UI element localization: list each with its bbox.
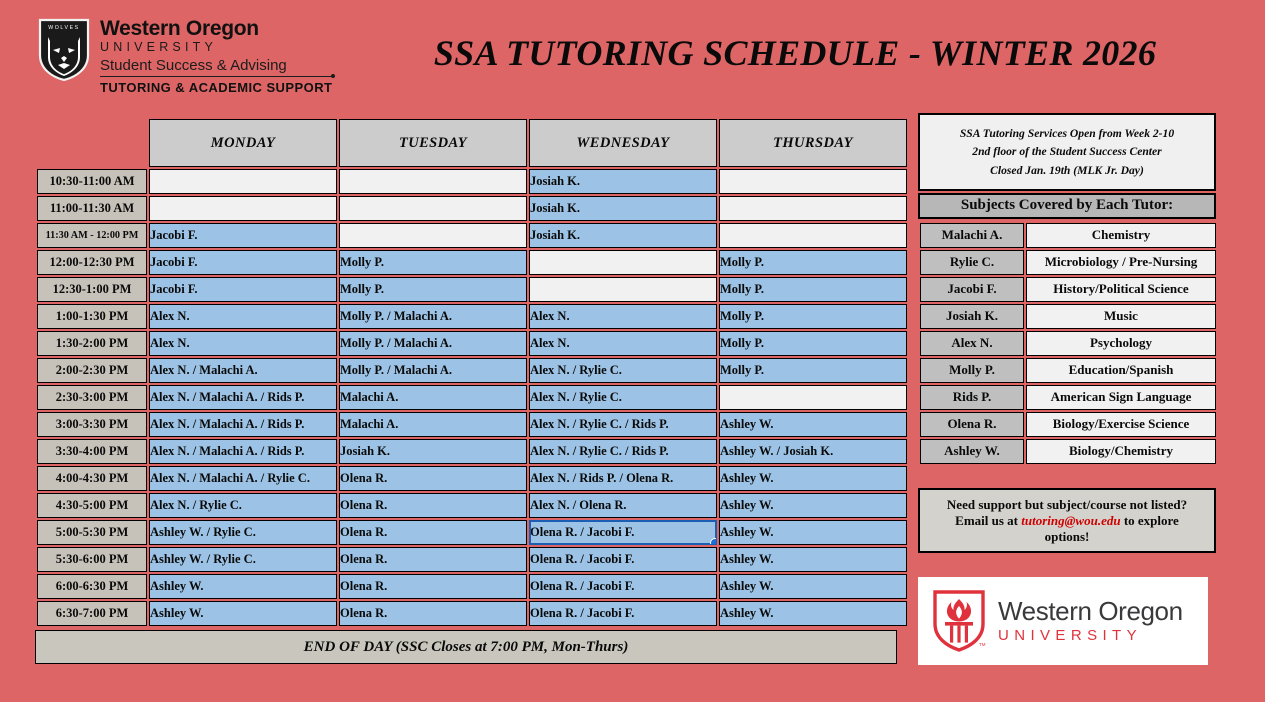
schedule-cell-tutor[interactable]: Ashley W. xyxy=(719,547,907,572)
schedule-cell-tutor[interactable]: Josiah K. xyxy=(339,439,527,464)
schedule-row: 3:30-4:00 PMAlex N. / Malachi A. / Rids … xyxy=(37,439,907,464)
schedule-row: 5:30-6:00 PMAshley W. / Rylie C.Olena R.… xyxy=(37,547,907,572)
schedule-cell-tutor[interactable]: Molly P. xyxy=(719,331,907,356)
schedule-cell-tutor[interactable]: Ashley W. xyxy=(719,466,907,491)
schedule-cell-tutor[interactable]: Ashley W. xyxy=(719,574,907,599)
time-slot-label: 2:30-3:00 PM xyxy=(37,385,147,410)
time-slot-label: 12:30-1:00 PM xyxy=(37,277,147,302)
torch-shield-icon: TM xyxy=(932,590,986,652)
subject-tutor-name: Molly P. xyxy=(920,358,1024,383)
schedule-cell-tutor[interactable]: Jacobi F. xyxy=(149,277,337,302)
schedule-cell-tutor[interactable]: Molly P. xyxy=(339,277,527,302)
schedule-cell-tutor[interactable]: Alex N. / Malachi A. xyxy=(149,358,337,383)
time-slot-label: 6:30-7:00 PM xyxy=(37,601,147,626)
time-slot-label: 11:30 AM - 12:00 PM xyxy=(37,223,147,248)
subject-tutor-name: Rylie C. xyxy=(920,250,1024,275)
time-slot-label: 5:00-5:30 PM xyxy=(37,520,147,545)
subject-row: Josiah K.Music xyxy=(920,304,1216,329)
schedule-row: 6:00-6:30 PMAshley W.Olena R.Olena R. / … xyxy=(37,574,907,599)
wolves-shield-icon: WOLVES xyxy=(38,17,90,81)
time-slot-label: 1:30-2:00 PM xyxy=(37,331,147,356)
subject-subject-name: Education/Spanish xyxy=(1026,358,1216,383)
schedule-cell-tutor[interactable]: Alex N. xyxy=(529,304,717,329)
schedule-cell-tutor[interactable]: Josiah K. xyxy=(529,169,717,194)
schedule-corner-cell xyxy=(37,119,147,167)
tutoring-email-link[interactable]: tutoring@wou.edu xyxy=(1021,513,1120,528)
email-prefix-text: Email us at xyxy=(955,513,1021,528)
ssa-tutoring-logo: WOLVES Western Oregon UNIVERSITY Student… xyxy=(38,16,368,92)
day-header-monday: MONDAY xyxy=(149,119,337,167)
logo-line-university: UNIVERSITY xyxy=(100,40,332,56)
email-suffix-text: to explore xyxy=(1121,513,1179,528)
subject-row: Rylie C.Microbiology / Pre-Nursing xyxy=(920,250,1216,275)
schedule-cell-tutor[interactable]: Molly P. xyxy=(339,250,527,275)
svg-text:WOLVES: WOLVES xyxy=(48,25,79,31)
schedule-cell-empty[interactable] xyxy=(719,196,907,221)
subject-tutor-name: Jacobi F. xyxy=(920,277,1024,302)
time-slot-label: 10:30-11:00 AM xyxy=(37,169,147,194)
schedule-row: 6:30-7:00 PMAshley W.Olena R.Olena R. / … xyxy=(37,601,907,626)
schedule-cell-tutor[interactable]: Olena R. xyxy=(339,601,527,626)
schedule-cell-tutor[interactable]: Ashley W. xyxy=(149,601,337,626)
email-box-line-1: Need support but subject/course not list… xyxy=(928,497,1206,513)
subject-tutor-name: Alex N. xyxy=(920,331,1024,356)
schedule-cell-tutor[interactable]: Malachi A. xyxy=(339,412,527,437)
subject-subject-name: Biology/Exercise Science xyxy=(1026,412,1216,437)
time-slot-label: 3:30-4:00 PM xyxy=(37,439,147,464)
schedule-cell-empty[interactable] xyxy=(719,169,907,194)
schedule-cell-empty[interactable] xyxy=(339,196,527,221)
schedule-cell-empty[interactable] xyxy=(149,169,337,194)
wou-university-logo: TM Western Oregon UNIVERSITY xyxy=(918,577,1208,665)
schedule-cell-tutor[interactable]: Alex N. xyxy=(529,331,717,356)
schedule-cell-tutor[interactable]: Ashley W. xyxy=(719,493,907,518)
schedule-cell-tutor[interactable]: Olena R. xyxy=(339,547,527,572)
schedule-cell-tutor[interactable]: Olena R. xyxy=(339,574,527,599)
schedule-header-row: MONDAY TUESDAY WEDNESDAY THURSDAY xyxy=(37,119,907,167)
schedule-body: 10:30-11:00 AMJosiah K.11:00-11:30 AMJos… xyxy=(37,169,907,626)
time-slot-label: 5:30-6:00 PM xyxy=(37,547,147,572)
notice-line-weeks: SSA Tutoring Services Open from Week 2-1… xyxy=(926,124,1208,143)
schedule-cell-tutor[interactable]: Malachi A. xyxy=(339,385,527,410)
email-box-line-2: Email us at tutoring@wou.edu to explore xyxy=(928,513,1206,529)
schedule-cell-tutor[interactable]: Molly P. / Malachi A. xyxy=(339,358,527,383)
schedule-cell-tutor[interactable]: Olena R. xyxy=(339,520,527,545)
subject-row: Rids P.American Sign Language xyxy=(920,385,1216,410)
svg-text:TM: TM xyxy=(979,642,986,647)
schedule-cell-tutor[interactable]: Olena R. / Jacobi F. xyxy=(529,601,717,626)
logo-line-western-oregon: Western Oregon xyxy=(100,18,332,39)
page-title: SSA TUTORING SCHEDULE - WINTER 2026 xyxy=(380,32,1210,74)
schedule-cell-empty[interactable] xyxy=(719,385,907,410)
wou-logo-line-1: Western Oregon xyxy=(998,598,1183,624)
schedule-cell-empty[interactable] xyxy=(529,277,717,302)
subject-tutor-name: Josiah K. xyxy=(920,304,1024,329)
schedule-cell-tutor[interactable]: Alex N. / Malachi A. / Rids P. xyxy=(149,439,337,464)
schedule-cell-tutor[interactable]: Jacobi F. xyxy=(149,223,337,248)
schedule-table-container: MONDAY TUESDAY WEDNESDAY THURSDAY 10:30-… xyxy=(35,117,897,664)
schedule-row: 12:30-1:00 PMJacobi F.Molly P.Molly P. xyxy=(37,277,907,302)
schedule-cell-tutor[interactable]: Molly P. / Malachi A. xyxy=(339,304,527,329)
subject-row: Alex N.Psychology xyxy=(920,331,1216,356)
notice-line-location: 2nd floor of the Student Success Center xyxy=(926,143,1208,162)
subject-tutor-name: Olena R. xyxy=(920,412,1024,437)
schedule-row: 12:00-12:30 PMJacobi F.Molly P.Molly P. xyxy=(37,250,907,275)
time-slot-label: 11:00-11:30 AM xyxy=(37,196,147,221)
schedule-row: 4:00-4:30 PMAlex N. / Malachi A. / Rylie… xyxy=(37,466,907,491)
schedule-cell-tutor[interactable]: Ashley W. / Josiah K. xyxy=(719,439,907,464)
schedule-row: 11:00-11:30 AMJosiah K. xyxy=(37,196,907,221)
time-slot-label: 4:00-4:30 PM xyxy=(37,466,147,491)
email-box-line-3: options! xyxy=(928,529,1206,545)
schedule-cell-tutor[interactable]: Molly P. / Malachi A. xyxy=(339,331,527,356)
info-side-panel: SSA Tutoring Services Open from Week 2-1… xyxy=(918,113,1216,665)
schedule-cell-empty[interactable] xyxy=(339,223,527,248)
schedule-cell-empty[interactable] xyxy=(529,250,717,275)
support-email-box: Need support but subject/course not list… xyxy=(918,488,1216,554)
schedule-cell-tutor[interactable]: Alex N. / Rylie C. / Rids P. xyxy=(529,439,717,464)
subject-subject-name: Music xyxy=(1026,304,1216,329)
schedule-cell-tutor[interactable]: Molly P. xyxy=(719,304,907,329)
schedule-cell-tutor[interactable]: Molly P. xyxy=(719,250,907,275)
subject-tutor-name: Malachi A. xyxy=(920,223,1024,248)
schedule-cell-tutor[interactable]: Josiah K. xyxy=(529,223,717,248)
schedule-cell-empty[interactable] xyxy=(149,196,337,221)
end-of-day-banner: END OF DAY (SSC Closes at 7:00 PM, Mon-T… xyxy=(35,630,897,664)
schedule-cell-tutor[interactable]: Alex N. / Rylie C. xyxy=(529,385,717,410)
schedule-row: 5:00-5:30 PMAshley W. / Rylie C.Olena R.… xyxy=(37,520,907,545)
schedule-cell-tutor[interactable]: Ashley W. xyxy=(719,520,907,545)
schedule-row: 4:30-5:00 PMAlex N. / Rylie C.Olena R.Al… xyxy=(37,493,907,518)
schedule-cell-tutor[interactable]: Alex N. / Rids P. / Olena R. xyxy=(529,466,717,491)
schedule-cell-tutor[interactable]: Olena R. xyxy=(339,493,527,518)
subjects-table: Malachi A.ChemistryRylie C.Microbiology … xyxy=(918,221,1218,466)
subject-subject-name: Biology/Chemistry xyxy=(1026,439,1216,464)
schedule-cell-tutor[interactable]: Alex N. / Malachi A. / Rids P. xyxy=(149,412,337,437)
schedule-cell-tutor[interactable]: Alex N. / Rylie C. / Rids P. xyxy=(529,412,717,437)
schedule-cell-tutor[interactable]: Molly P. xyxy=(719,277,907,302)
schedule-cell-tutor[interactable]: Jacobi F. xyxy=(149,250,337,275)
schedule-row: 1:00-1:30 PMAlex N.Molly P. / Malachi A.… xyxy=(37,304,907,329)
day-header-wednesday: WEDNESDAY xyxy=(529,119,717,167)
schedule-cell-tutor[interactable]: Olena R. xyxy=(339,466,527,491)
subject-tutor-name: Rids P. xyxy=(920,385,1024,410)
page-header: WOLVES Western Oregon UNIVERSITY Student… xyxy=(0,0,1265,108)
subject-row: Malachi A.Chemistry xyxy=(920,223,1216,248)
schedule-cell-tutor[interactable]: Olena R. / Jacobi F. xyxy=(529,547,717,572)
schedule-cell-tutor[interactable]: Ashley W. / Rylie C. xyxy=(149,520,337,545)
services-notice-box: SSA Tutoring Services Open from Week 2-1… xyxy=(918,113,1216,191)
schedule-cell-tutor[interactable]: Alex N. / Malachi A. / Rylie C. xyxy=(149,466,337,491)
time-slot-label: 3:00-3:30 PM xyxy=(37,412,147,437)
time-slot-label: 4:30-5:00 PM xyxy=(37,493,147,518)
schedule-row: 1:30-2:00 PMAlex N.Molly P. / Malachi A.… xyxy=(37,331,907,356)
schedule-cell-tutor[interactable]: Alex N. xyxy=(149,331,337,356)
schedule-cell-tutor[interactable]: Ashley W. xyxy=(149,574,337,599)
subject-subject-name: Microbiology / Pre-Nursing xyxy=(1026,250,1216,275)
time-slot-label: 1:00-1:30 PM xyxy=(37,304,147,329)
schedule-cell-tutor[interactable]: Olena R. / Jacobi F. xyxy=(529,574,717,599)
schedule-row: 3:00-3:30 PMAlex N. / Malachi A. / Rids … xyxy=(37,412,907,437)
subject-row: Ashley W.Biology/Chemistry xyxy=(920,439,1216,464)
subject-row: Jacobi F.History/Political Science xyxy=(920,277,1216,302)
schedule-cell-tutor[interactable]: Alex N. / Malachi A. / Rids P. xyxy=(149,385,337,410)
schedule-row: 2:00-2:30 PMAlex N. / Malachi A.Molly P.… xyxy=(37,358,907,383)
schedule-row: 11:30 AM - 12:00 PMJacobi F.Josiah K. xyxy=(37,223,907,248)
schedule-cell-tutor[interactable]: Molly P. xyxy=(719,358,907,383)
time-slot-label: 2:00-2:30 PM xyxy=(37,358,147,383)
subjects-table-body: Malachi A.ChemistryRylie C.Microbiology … xyxy=(920,223,1216,464)
schedule-cell-tutor[interactable]: Alex N. xyxy=(149,304,337,329)
schedule-cell-empty[interactable] xyxy=(339,169,527,194)
subject-subject-name: Chemistry xyxy=(1026,223,1216,248)
subject-subject-name: Psychology xyxy=(1026,331,1216,356)
schedule-cell-tutor[interactable]: Alex N. / Olena R. xyxy=(529,493,717,518)
subject-tutor-name: Ashley W. xyxy=(920,439,1024,464)
schedule-cell-empty[interactable] xyxy=(719,223,907,248)
logo-line-tutoring-support: TUTORING & ACADEMIC SUPPORT xyxy=(100,80,332,95)
logo-divider-rule xyxy=(100,76,332,78)
time-slot-label: 6:00-6:30 PM xyxy=(37,574,147,599)
schedule-row: 2:30-3:00 PMAlex N. / Malachi A. / Rids … xyxy=(37,385,907,410)
day-header-tuesday: TUESDAY xyxy=(339,119,527,167)
notice-line-closure: Closed Jan. 19th (MLK Jr. Day) xyxy=(926,161,1208,180)
schedule-cell-tutor[interactable]: Olena R. / Jacobi F. xyxy=(529,520,717,545)
subject-row: Molly P.Education/Spanish xyxy=(920,358,1216,383)
logo-line-student-success: Student Success & Advising xyxy=(100,57,332,74)
schedule-row: 10:30-11:00 AMJosiah K. xyxy=(37,169,907,194)
tutoring-schedule-table: MONDAY TUESDAY WEDNESDAY THURSDAY 10:30-… xyxy=(35,117,909,628)
subject-subject-name: History/Political Science xyxy=(1026,277,1216,302)
time-slot-label: 12:00-12:30 PM xyxy=(37,250,147,275)
schedule-cell-tutor[interactable]: Josiah K. xyxy=(529,196,717,221)
subject-subject-name: American Sign Language xyxy=(1026,385,1216,410)
schedule-cell-tutor[interactable]: Ashley W. xyxy=(719,601,907,626)
subject-row: Olena R.Biology/Exercise Science xyxy=(920,412,1216,437)
day-header-thursday: THURSDAY xyxy=(719,119,907,167)
schedule-cell-tutor[interactable]: Ashley W. xyxy=(719,412,907,437)
schedule-cell-tutor[interactable]: Alex N. / Rylie C. xyxy=(529,358,717,383)
schedule-cell-tutor[interactable]: Ashley W. / Rylie C. xyxy=(149,547,337,572)
schedule-cell-tutor[interactable]: Alex N. / Rylie C. xyxy=(149,493,337,518)
wou-logo-line-2: UNIVERSITY xyxy=(998,627,1183,644)
subjects-table-title: Subjects Covered by Each Tutor: xyxy=(918,193,1216,219)
